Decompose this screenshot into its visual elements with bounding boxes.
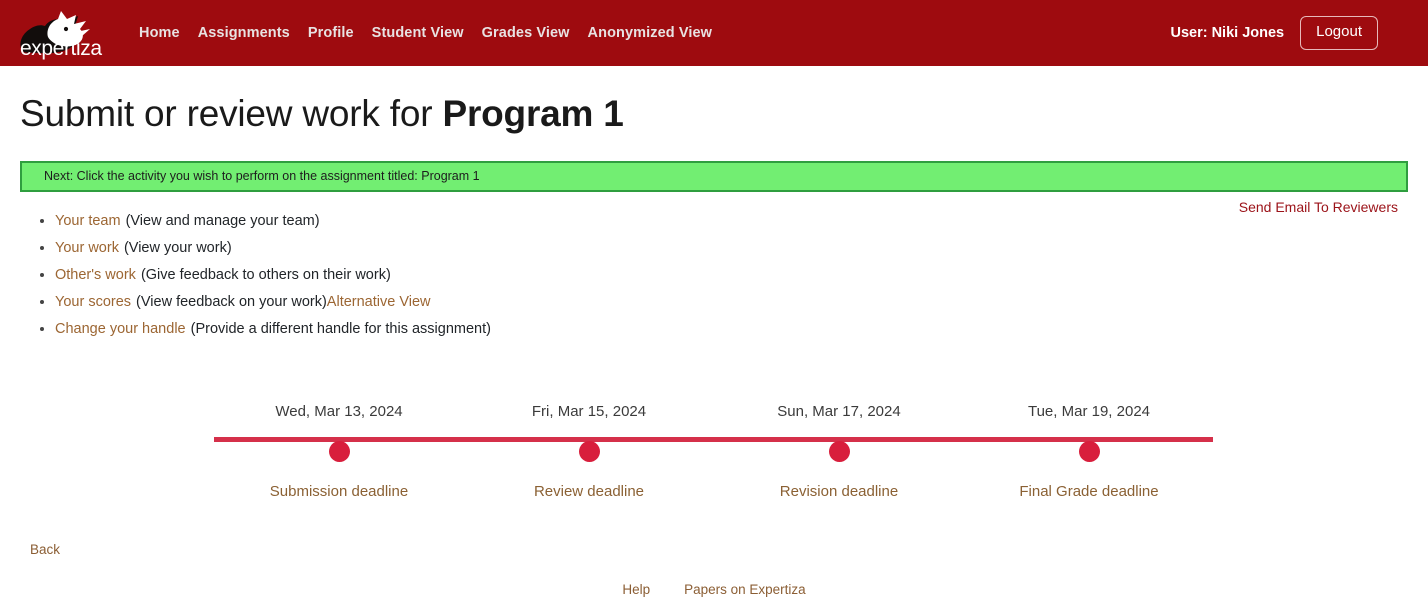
action-your-team-link[interactable]: Your team	[55, 213, 121, 229]
page-title: Submit or review work for Program 1	[0, 66, 1428, 136]
list-item: Other's work(Give feedback to others on …	[55, 265, 1428, 286]
timeline-node-submission: Wed, Mar 13, 2024 Submission deadline	[239, 395, 439, 500]
timeline-dot-icon	[329, 441, 350, 462]
nav-item: Assignments	[189, 17, 299, 49]
wolf-head-icon: expertiza	[14, 7, 112, 63]
footer-link-help[interactable]: Help	[622, 582, 650, 597]
timeline-label: Review deadline	[489, 483, 689, 500]
timeline-dot-icon	[829, 441, 850, 462]
nav-item: Grades View	[473, 17, 579, 49]
timeline-node-review: Fri, Mar 15, 2024 Review deadline	[489, 395, 689, 500]
action-your-team-desc: (View and manage your team)	[126, 213, 320, 229]
nav-link-assignments[interactable]: Assignments	[189, 17, 299, 49]
timeline-dot-icon	[1079, 441, 1100, 462]
logout-button[interactable]: Logout	[1300, 16, 1378, 50]
flash-notice-text: Next: Click the activity you wish to per…	[44, 169, 480, 183]
footer-link-papers[interactable]: Papers on Expertiza	[684, 582, 806, 597]
list-item: Your scores(View feedback on your work)A…	[55, 292, 1428, 313]
list-item: Your team(View and manage your team)	[55, 211, 1428, 232]
list-item: Your work(View your work)	[55, 238, 1428, 259]
navbar-user-section: User: Niki Jones Logout	[1170, 16, 1412, 50]
list-item: Change your handle(Provide a different h…	[55, 319, 1428, 340]
timeline-date: Fri, Mar 15, 2024	[489, 395, 689, 419]
action-your-scores-link[interactable]: Your scores	[55, 294, 131, 310]
action-change-handle-link[interactable]: Change your handle	[55, 321, 186, 337]
timeline-label: Submission deadline	[239, 483, 439, 500]
action-change-handle-desc: (Provide a different handle for this ass…	[191, 321, 491, 337]
nav-item: Anonymized View	[579, 17, 722, 49]
nav-link-profile[interactable]: Profile	[299, 17, 363, 49]
action-others-work-link[interactable]: Other's work	[55, 267, 136, 283]
page-title-prefix: Submit or review work for	[20, 93, 442, 134]
content-area: Send Email To Reviewers Your team(View a…	[0, 192, 1428, 515]
timeline-label: Revision deadline	[739, 483, 939, 500]
nav-link-anonymized-view[interactable]: Anonymized View	[579, 17, 722, 49]
page-footer: Help Papers on Expertiza	[0, 582, 1428, 597]
nav-item: Profile	[299, 17, 363, 49]
back-link[interactable]: Back	[30, 542, 60, 557]
action-your-scores-desc: (View feedback on your work)	[136, 294, 327, 310]
nav-links: Home Assignments Profile Student View Gr…	[130, 17, 721, 49]
timeline-dot-icon	[579, 441, 600, 462]
assignment-actions-list: Your team(View and manage your team) You…	[0, 211, 1428, 340]
current-user-label: User: Niki Jones	[1170, 25, 1284, 41]
alternative-view-link[interactable]: Alternative View	[327, 294, 431, 310]
assignment-name: Program 1	[442, 93, 623, 134]
nav-item: Student View	[363, 17, 473, 49]
action-others-work-desc: (Give feedback to others on their work)	[141, 267, 391, 283]
timeline-node-revision: Sun, Mar 17, 2024 Revision deadline	[739, 395, 939, 500]
nav-item: Home	[130, 17, 189, 49]
timeline-date: Tue, Mar 19, 2024	[989, 395, 1189, 419]
nav-link-grades-view[interactable]: Grades View	[473, 17, 579, 49]
deadline-timeline: Wed, Mar 13, 2024 Submission deadline Fr…	[0, 395, 1428, 515]
action-your-work-desc: (View your work)	[124, 240, 232, 256]
nav-link-student-view[interactable]: Student View	[363, 17, 473, 49]
action-your-work-link[interactable]: Your work	[55, 240, 119, 256]
expertiza-logo[interactable]: expertiza	[14, 7, 112, 59]
svg-text:expertiza: expertiza	[20, 37, 102, 60]
flash-notice: Next: Click the activity you wish to per…	[20, 161, 1408, 192]
main-navbar: expertiza Home Assignments Profile Stude…	[0, 0, 1428, 66]
send-email-to-reviewers-link[interactable]: Send Email To Reviewers	[1239, 199, 1398, 215]
timeline-node-final-grade: Tue, Mar 19, 2024 Final Grade deadline	[989, 395, 1189, 500]
nav-link-home[interactable]: Home	[130, 17, 189, 49]
timeline-date: Sun, Mar 17, 2024	[739, 395, 939, 419]
timeline-date: Wed, Mar 13, 2024	[239, 395, 439, 419]
timeline-label: Final Grade deadline	[989, 483, 1189, 500]
